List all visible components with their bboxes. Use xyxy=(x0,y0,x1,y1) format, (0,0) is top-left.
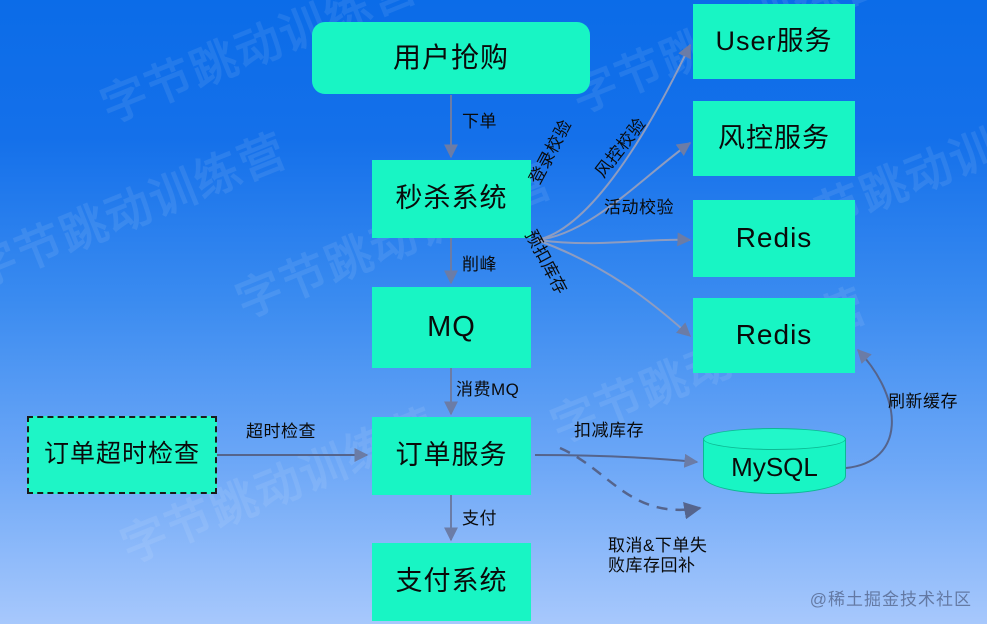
node-label: Redis xyxy=(736,223,813,254)
node-label: 支付系统 xyxy=(396,567,508,597)
node-label: MQ xyxy=(427,312,476,344)
edge-label-peak: 削峰 xyxy=(462,255,497,275)
node-risk-service[interactable]: 风控服务 xyxy=(693,101,855,176)
node-redis-2[interactable]: Redis xyxy=(693,298,855,373)
node-label: 风控服务 xyxy=(718,124,830,154)
node-seckill[interactable]: 秒杀系统 xyxy=(372,160,531,238)
node-pay-system[interactable]: 支付系统 xyxy=(372,543,531,621)
node-label: User服务 xyxy=(715,27,832,57)
edge-label-consume: 消费MQ xyxy=(456,380,519,400)
node-user-rush[interactable]: 用户抢购 xyxy=(312,22,590,94)
edge-label-activity: 活动校验 xyxy=(604,198,674,218)
node-order-service[interactable]: 订单服务 xyxy=(372,417,531,495)
node-label: Redis xyxy=(736,320,813,351)
node-label: 订单服务 xyxy=(396,441,508,471)
edge-label-deduct: 扣减库存 xyxy=(574,421,644,441)
node-user-service[interactable]: User服务 xyxy=(693,4,855,79)
node-label: 订单超时检查 xyxy=(44,441,200,469)
node-label: 用户抢购 xyxy=(393,43,509,74)
node-mq[interactable]: MQ xyxy=(372,287,531,368)
edge-label-order: 下单 xyxy=(462,112,497,132)
node-redis-1[interactable]: Redis xyxy=(693,200,855,277)
edge-activity xyxy=(537,240,690,243)
edge-label-refresh: 刷新缓存 xyxy=(888,392,958,412)
edge-label-timeout: 超时检查 xyxy=(246,422,316,442)
background-watermark: 字节跳动训练营 xyxy=(0,114,296,301)
diagram-canvas: 字节跳动训练营 字节跳动训练营 字节跳动训练营 字节跳动训练营 字节跳动训练营 … xyxy=(0,0,987,624)
edge-label-pay: 支付 xyxy=(462,509,497,529)
edge-rollback xyxy=(560,448,700,510)
edge-deduct xyxy=(535,455,697,462)
edge-label-rollback: 取消&下单失 败库存回补 xyxy=(608,536,707,575)
node-label: MySQL xyxy=(703,428,846,500)
node-mysql[interactable]: MySQL xyxy=(703,428,846,500)
node-label: 秒杀系统 xyxy=(396,184,508,214)
edge-label-risk: 风控校验 xyxy=(592,114,650,181)
credit-watermark: @稀土掘金技术社区 xyxy=(810,585,972,610)
node-order-timeout[interactable]: 订单超时检查 xyxy=(27,416,217,494)
edge-label-login: 登录校验 xyxy=(526,117,576,188)
